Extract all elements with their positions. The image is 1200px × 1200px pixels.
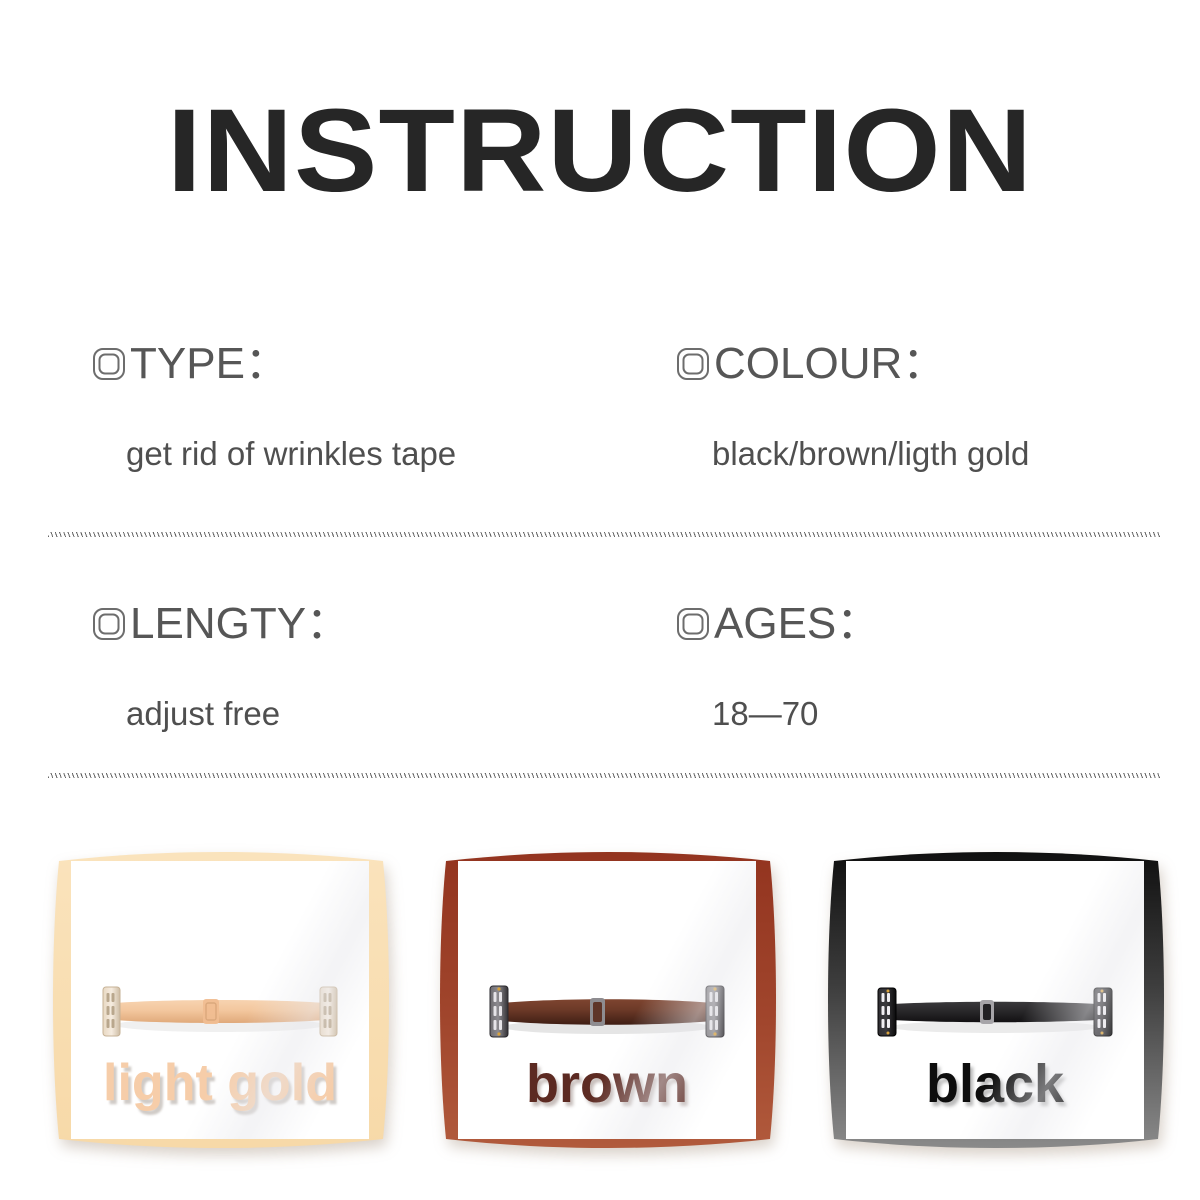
spec-label-ages: AGES：	[714, 602, 880, 646]
spec-item-lengty: LENGTY： adjust free	[92, 595, 652, 730]
product-strap-light-gold	[89, 979, 351, 1043]
colour-card-gallery: light gold	[0, 845, 1200, 1200]
spec-label-line: AGES：	[676, 595, 1176, 653]
page-title: INSTRUCTION	[0, 92, 1200, 210]
strap-illustration	[864, 979, 1126, 1043]
card-colour-label: black	[846, 1057, 1144, 1111]
product-strap-black	[864, 979, 1126, 1043]
section-divider-1	[48, 532, 1160, 537]
rounded-square-outline-icon	[92, 347, 126, 381]
spec-row-2: LENGTY： adjust free AGES： 18—70	[0, 595, 1200, 765]
strap-illustration	[476, 979, 738, 1043]
spec-item-colour: COLOUR： black/brown/ligth gold	[676, 335, 1176, 470]
spec-value-colour: black/brown/ligth gold	[712, 437, 1176, 470]
rounded-square-outline-icon	[676, 347, 710, 381]
spec-label-line: LENGTY：	[92, 595, 652, 653]
spec-label-colour: COLOUR：	[714, 342, 946, 386]
rounded-square-outline-icon	[92, 607, 126, 641]
card-photo-area: black	[846, 861, 1144, 1139]
section-divider-2	[48, 773, 1160, 778]
spec-item-ages: AGES： 18—70	[676, 595, 1176, 730]
colour-card-light-gold[interactable]: light gold	[45, 845, 395, 1155]
card-frame: black	[820, 845, 1170, 1155]
spec-label-line: TYPE：	[92, 335, 652, 393]
card-frame: brown	[432, 845, 782, 1155]
spec-item-type: TYPE： get rid of wrinkles tape	[92, 335, 652, 470]
spec-value-type: get rid of wrinkles tape	[126, 437, 652, 470]
spec-value-ages: 18—70	[712, 697, 1176, 730]
spec-label-line: COLOUR：	[676, 335, 1176, 393]
card-photo-area: light gold	[71, 861, 369, 1139]
card-photo-area: brown	[458, 861, 756, 1139]
card-frame: light gold	[45, 845, 395, 1155]
spec-value-lengty: adjust free	[126, 697, 652, 730]
colour-card-brown[interactable]: brown	[432, 845, 782, 1155]
colour-card-black[interactable]: black	[820, 845, 1170, 1155]
product-strap-brown	[476, 979, 738, 1043]
spec-label-type: TYPE：	[130, 342, 289, 386]
spec-label-lengty: LENGTY：	[130, 602, 350, 646]
spec-row-1: TYPE： get rid of wrinkles tape COLOUR： b…	[0, 335, 1200, 505]
rounded-square-outline-icon	[676, 607, 710, 641]
strap-illustration	[89, 979, 351, 1043]
card-colour-label: brown	[458, 1057, 756, 1111]
card-colour-label: light gold	[71, 1057, 369, 1109]
